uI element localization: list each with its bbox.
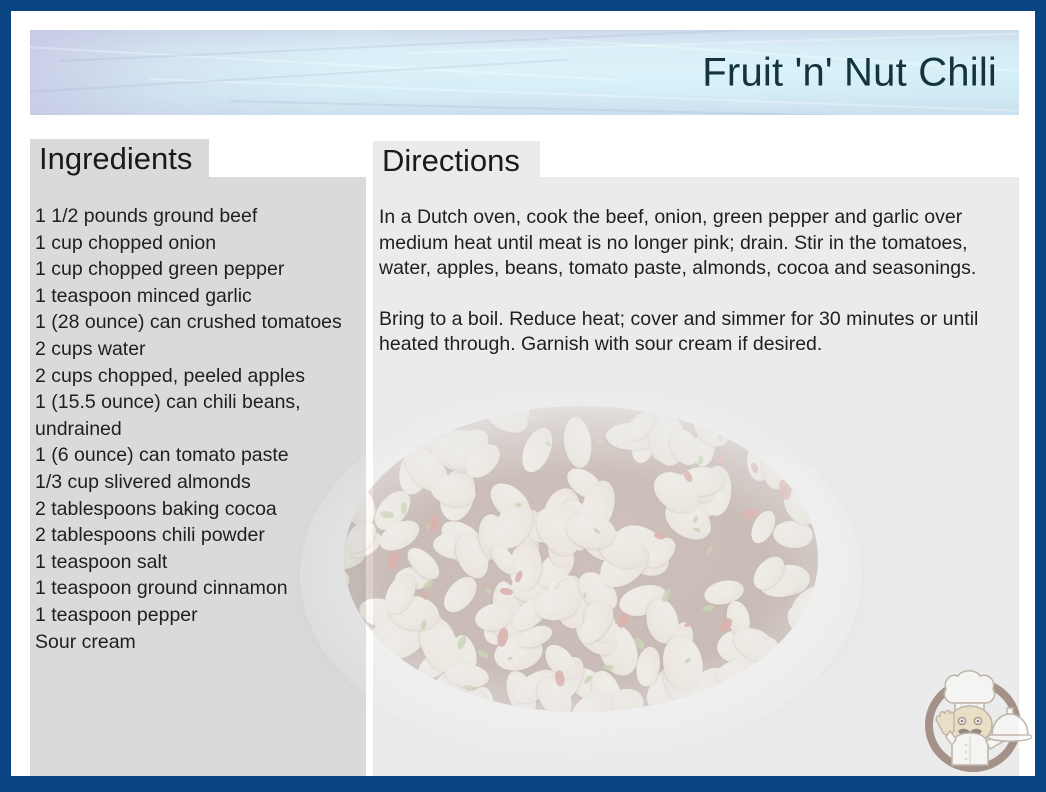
ingredient-item: 1 teaspoon ground cinnamon [35, 575, 357, 602]
ingredient-item: 1 1/2 pounds ground beef [35, 203, 357, 230]
direction-paragraph: Bring to a boil. Reduce heat; cover and … [379, 307, 1024, 358]
chef-mascot-logo [914, 659, 1032, 776]
ingredient-item: 1 (15.5 ounce) can chili beans, undraine… [35, 389, 357, 442]
tab-directions-label: Directions [382, 143, 520, 179]
directions-text: In a Dutch oven, cook the beef, onion, g… [379, 205, 1024, 358]
ingredient-item: 1 teaspoon salt [35, 549, 357, 576]
tab-directions[interactable]: Directions [373, 141, 540, 180]
ingredient-item: 1 teaspoon minced garlic [35, 283, 357, 310]
recipe-card: Fruit 'n' Nut Chili Ingredients Directio… [11, 11, 1035, 776]
ingredient-item: 1 cup chopped green pepper [35, 256, 357, 283]
ingredient-item: 2 tablespoons baking cocoa [35, 496, 357, 523]
recipe-card-page: Fruit 'n' Nut Chili Ingredients Directio… [0, 0, 1046, 792]
ingredient-item: 1/3 cup slivered almonds [35, 469, 357, 496]
ingredient-item: 1 cup chopped onion [35, 230, 357, 257]
direction-paragraph: In a Dutch oven, cook the beef, onion, g… [379, 205, 1024, 282]
ingredient-item: 2 cups chopped, peeled apples [35, 363, 357, 390]
ingredient-item: 2 cups water [35, 336, 357, 363]
ingredient-item: 1 (28 ounce) can crushed tomatoes [35, 309, 357, 336]
ingredient-item: 2 tablespoons chili powder [35, 522, 357, 549]
ingredient-item: 1 (6 ounce) can tomato paste [35, 442, 357, 469]
title-banner: Fruit 'n' Nut Chili [30, 30, 1019, 115]
ingredient-item: 1 teaspoon pepper [35, 602, 357, 629]
tab-ingredients[interactable]: Ingredients [30, 139, 209, 178]
ingredient-item: Sour cream [35, 629, 357, 656]
tab-ingredients-label: Ingredients [39, 141, 192, 177]
recipe-title: Fruit 'n' Nut Chili [702, 50, 997, 95]
ingredients-list: 1 1/2 pounds ground beef1 cup chopped on… [35, 203, 357, 655]
banner-streak [30, 59, 569, 94]
